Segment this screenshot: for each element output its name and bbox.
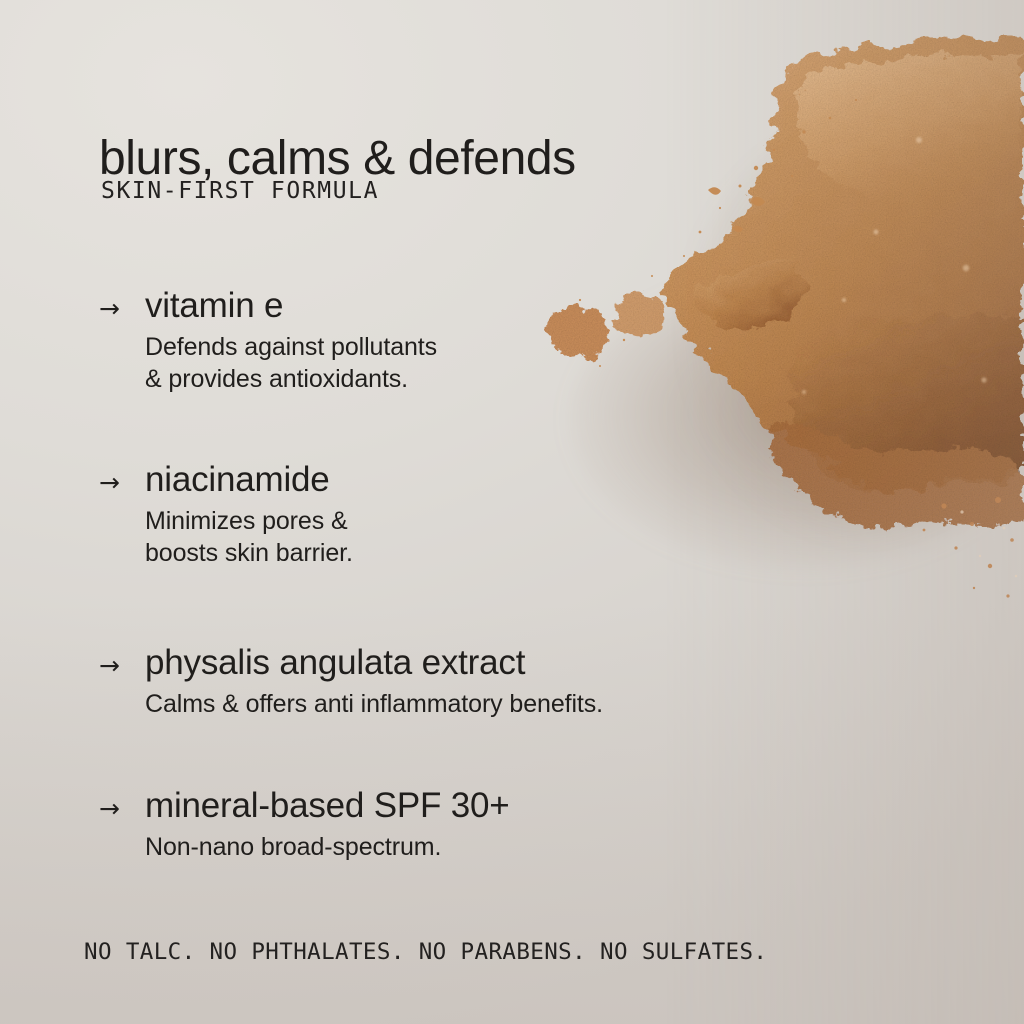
arrow-right-icon: → — [99, 296, 145, 321]
ingredient-term: physalis angulata extract — [145, 645, 525, 680]
free-from-claims: NO TALC. NO PHTHALATES. NO PARABENS. NO … — [84, 941, 767, 964]
mineral-powder-image — [504, 0, 1024, 620]
ingredient-term: niacinamide — [145, 462, 330, 497]
headline: blurs, calms & defends — [99, 135, 576, 183]
ingredient-description: Calms & offers anti inflammatory benefit… — [145, 689, 603, 721]
product-claims-graphic: blurs, calms & defends SKIN-FIRST FORMUL… — [0, 0, 1024, 1024]
ingredient-description: Non-nano broad-spectrum. — [145, 832, 509, 864]
arrow-right-icon: → — [99, 796, 145, 821]
subheadline: SKIN-FIRST FORMULA — [101, 180, 379, 203]
arrow-right-icon: → — [99, 470, 145, 495]
ingredient-description: Defends against pollutants & provides an… — [145, 332, 437, 396]
arrow-right-icon: → — [99, 653, 145, 678]
ingredient-item-niacinamide: → niacinamide Minimizes pores & boosts s… — [99, 462, 353, 570]
ingredient-description: Minimizes pores & boosts skin barrier. — [145, 506, 353, 570]
ingredient-item-physalis-angulata-extract: → physalis angulata extract Calms & offe… — [99, 645, 603, 721]
ingredient-term: vitamin e — [145, 288, 283, 323]
ingredient-term: mineral-based SPF 30+ — [145, 788, 509, 823]
ingredient-item-mineral-based-spf: → mineral-based SPF 30+ Non-nano broad-s… — [99, 788, 509, 864]
ingredient-item-vitamin-e: → vitamin e Defends against pollutants &… — [99, 288, 437, 396]
